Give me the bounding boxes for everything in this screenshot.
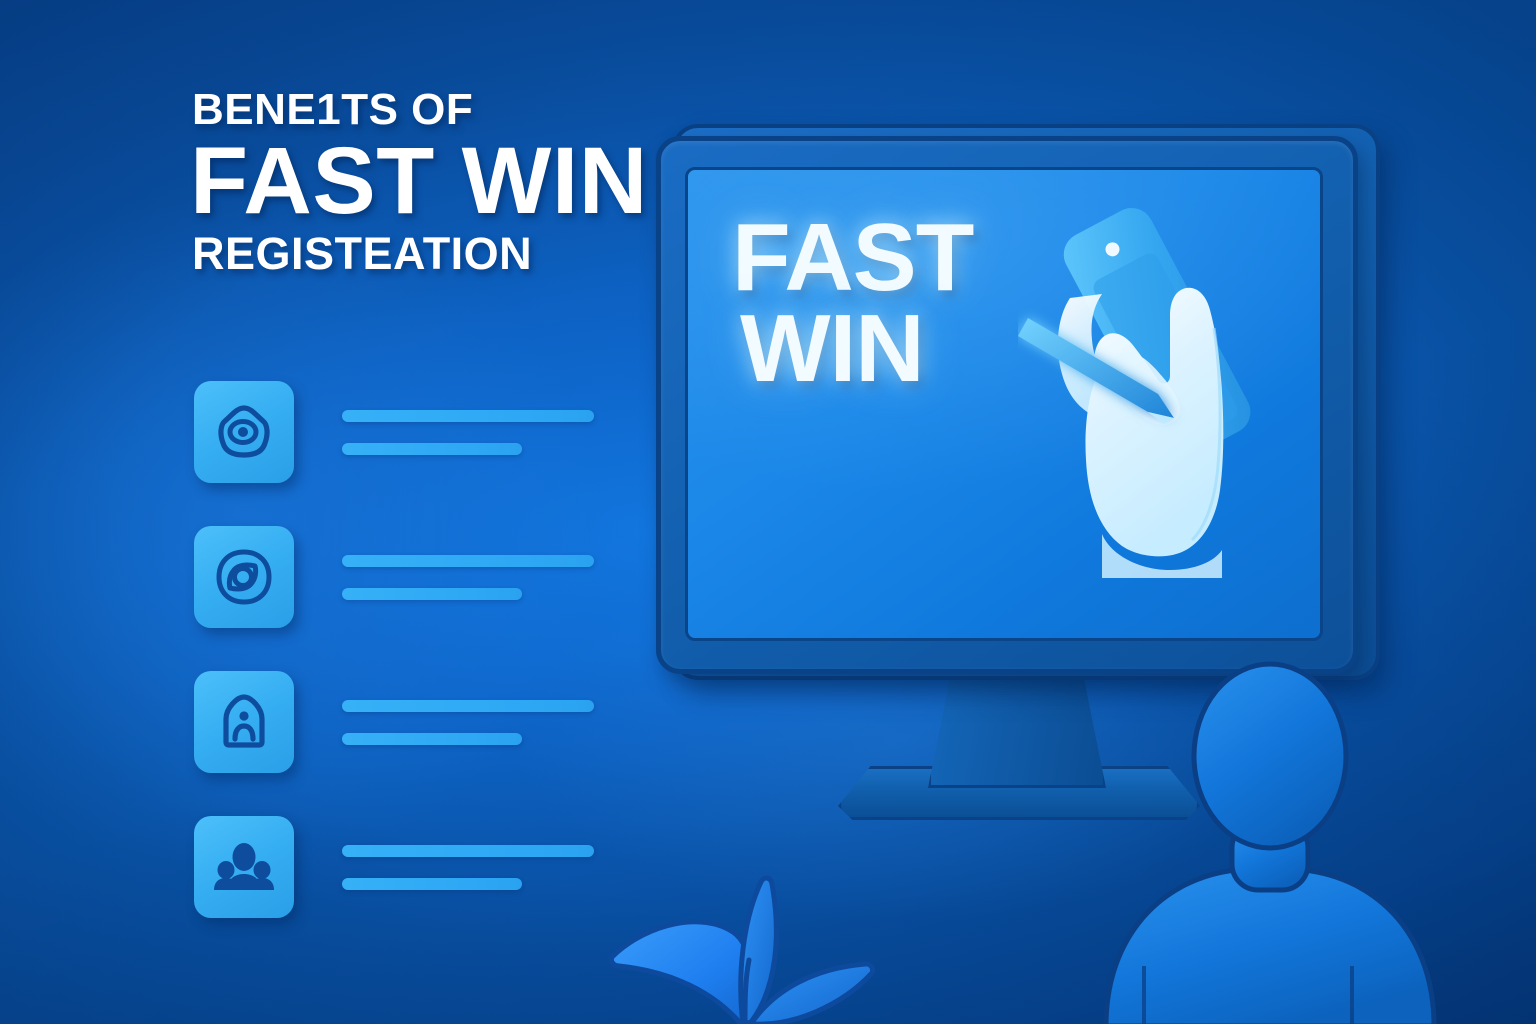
monitor-stand-neck bbox=[928, 664, 1106, 788]
text-placeholder-bar bbox=[342, 555, 594, 567]
text-placeholder-bar bbox=[342, 443, 522, 455]
home-person-icon bbox=[213, 691, 275, 753]
benefit-icon-tile-4[interactable] bbox=[194, 816, 294, 918]
poster-canvas: BENE1TS OF FAST WIN REGISTEATION bbox=[0, 0, 1536, 1024]
text-placeholder-bar bbox=[342, 700, 594, 712]
headline-main: FAST WIN bbox=[190, 134, 752, 228]
monitor-illustration: FAST WIN bbox=[656, 112, 1372, 672]
screen-headline-line-1: FAST bbox=[732, 212, 973, 303]
headline-sub: REGISTEATION bbox=[192, 232, 752, 277]
monitor-bezel: FAST WIN bbox=[656, 136, 1358, 674]
benefit-text-lines-4 bbox=[342, 845, 614, 890]
text-placeholder-bar bbox=[342, 410, 594, 422]
text-placeholder-bar bbox=[342, 733, 522, 745]
person-silhouette bbox=[1086, 646, 1516, 1024]
people-group-icon bbox=[213, 836, 275, 898]
benefit-text-lines-3 bbox=[342, 700, 614, 745]
shield-eye-icon bbox=[213, 401, 275, 463]
plant-sprout bbox=[575, 808, 905, 1024]
screen-headline-line-2: WIN bbox=[740, 303, 973, 394]
text-placeholder-bar bbox=[342, 588, 522, 600]
benefit-icon-tile-1[interactable] bbox=[194, 381, 294, 483]
benefit-icon-tile-3[interactable] bbox=[194, 671, 294, 773]
headline-block: BENE1TS OF FAST WIN REGISTEATION bbox=[192, 88, 752, 276]
list-item[interactable] bbox=[194, 811, 614, 923]
screen-headline: FAST WIN bbox=[732, 212, 973, 394]
benefit-text-lines-1 bbox=[342, 410, 614, 455]
headline-kicker: BENE1TS OF bbox=[192, 88, 752, 132]
list-item[interactable] bbox=[194, 666, 614, 778]
list-item[interactable] bbox=[194, 521, 614, 633]
text-placeholder-bar bbox=[342, 845, 594, 857]
benefits-list bbox=[194, 376, 614, 923]
benefit-text-lines-2 bbox=[342, 555, 614, 600]
hand-phone-stylus-illustration bbox=[1018, 178, 1318, 578]
monitor-screen: FAST WIN bbox=[685, 167, 1323, 641]
text-placeholder-bar bbox=[342, 878, 522, 890]
leaf-circle-icon bbox=[213, 546, 275, 608]
list-item[interactable] bbox=[194, 376, 614, 488]
benefit-icon-tile-2[interactable] bbox=[194, 526, 294, 628]
